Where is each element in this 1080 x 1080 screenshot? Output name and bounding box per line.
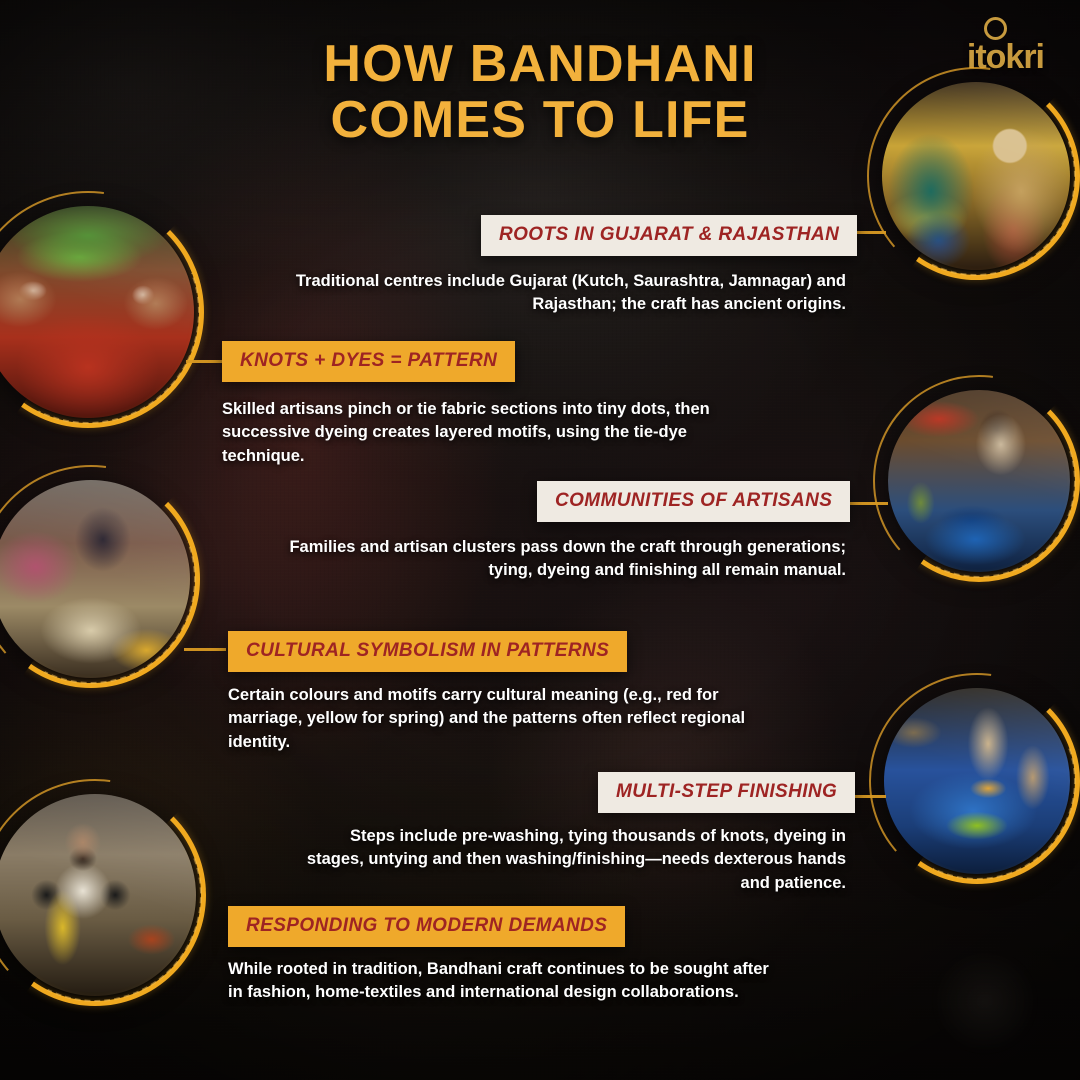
section-heading-symbolism: CULTURAL SYMBOLISM IN PATTERNS xyxy=(228,631,627,672)
section-body-modern-demands: While rooted in tradition, Bandhani craf… xyxy=(228,958,780,1005)
section-heading-communities: COMMUNITIES OF ARTISANS xyxy=(537,481,850,522)
photo-man-yellow-dyeing-image xyxy=(0,794,196,996)
section-body-knots-dyes: Skilled artisans pinch or tie fabric sec… xyxy=(222,398,752,468)
brand-logo-text: itokri xyxy=(967,40,1044,74)
section-heading-roots: ROOTS IN GUJARAT & RAJASTHAN xyxy=(481,215,857,256)
photo-woman-seated-tying-image xyxy=(0,480,190,678)
infographic-canvas: HOW BANDHANI COMES TO LIFE itokri xyxy=(0,0,1080,1080)
photo-fabric-in-blue-dye xyxy=(874,678,1080,884)
photo-two-women-tying-image xyxy=(882,82,1070,270)
title-line-1: HOW BANDHANI xyxy=(323,35,756,93)
photo-hands-tying-red-image xyxy=(0,206,194,418)
section-body-roots: Traditional centres include Gujarat (Kut… xyxy=(250,270,846,317)
photo-fabric-in-blue-dye-image xyxy=(884,688,1070,874)
brand-logo[interactable]: itokri xyxy=(967,40,1044,74)
background-motif xyxy=(920,952,1050,1062)
photo-artisan-dye-vat-image xyxy=(888,390,1070,572)
section-body-symbolism: Certain colours and motifs carry cultura… xyxy=(228,684,758,754)
connector-symbolism xyxy=(184,648,226,651)
logo-ring-icon xyxy=(984,17,1007,40)
connector-knots xyxy=(186,360,226,363)
photo-artisan-dye-vat xyxy=(878,380,1080,582)
section-body-finishing: Steps include pre-washing, tying thousan… xyxy=(300,825,846,895)
photo-two-women-tying xyxy=(872,72,1080,280)
section-heading-finishing: MULTI-STEP FINISHING xyxy=(598,772,855,813)
section-heading-modern-demands: RESPONDING TO MODERN DEMANDS xyxy=(228,906,625,947)
section-body-communities: Families and artisan clusters pass down … xyxy=(244,536,846,583)
title-line-2: COMES TO LIFE xyxy=(140,92,940,148)
section-heading-knots-dyes: KNOTS + DYES = PATTERN xyxy=(222,341,515,382)
